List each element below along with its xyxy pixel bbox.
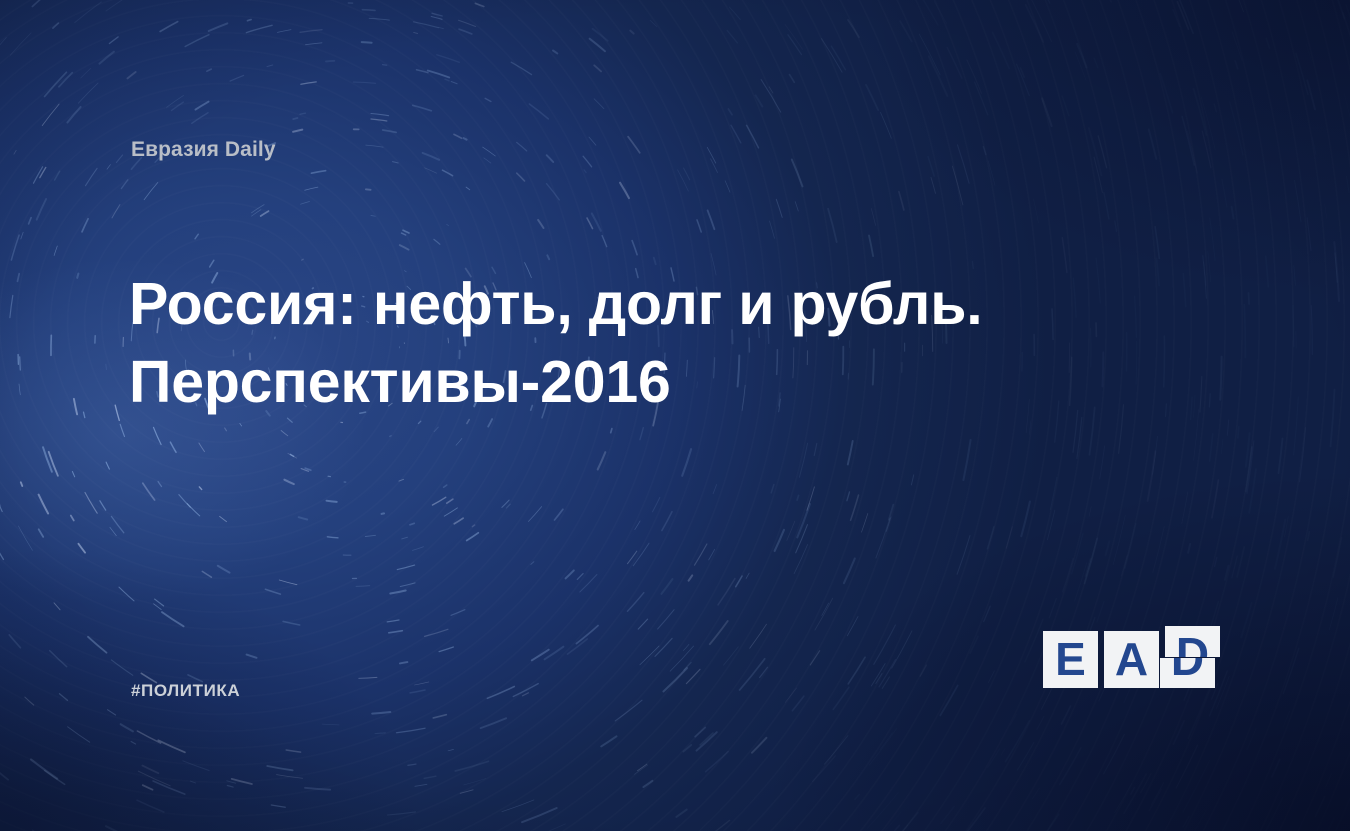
hashtag-politika[interactable]: #ПОЛИТИКА bbox=[131, 681, 240, 701]
social-share-card: Евразия Daily Россия: нефть, долг и рубл… bbox=[0, 0, 1350, 831]
svg-text:E: E bbox=[1055, 633, 1086, 685]
site-name: Евразия Daily bbox=[131, 138, 276, 162]
logo-tile-d: D D bbox=[1160, 626, 1220, 688]
svg-text:A: A bbox=[1115, 633, 1148, 685]
eadaily-logo[interactable]: E A D bbox=[1043, 625, 1223, 688]
headline-line-1: Россия: нефть, долг и рубль. bbox=[129, 265, 1029, 343]
headline-line-2: Перспективы-2016 bbox=[129, 343, 1029, 421]
card-content: Евразия Daily Россия: нефть, долг и рубл… bbox=[0, 0, 1350, 831]
page-title: Россия: нефть, долг и рубль. Перспективы… bbox=[129, 265, 1029, 421]
logo-tile-a: A bbox=[1104, 631, 1159, 688]
logo-tile-e: E bbox=[1043, 631, 1098, 688]
